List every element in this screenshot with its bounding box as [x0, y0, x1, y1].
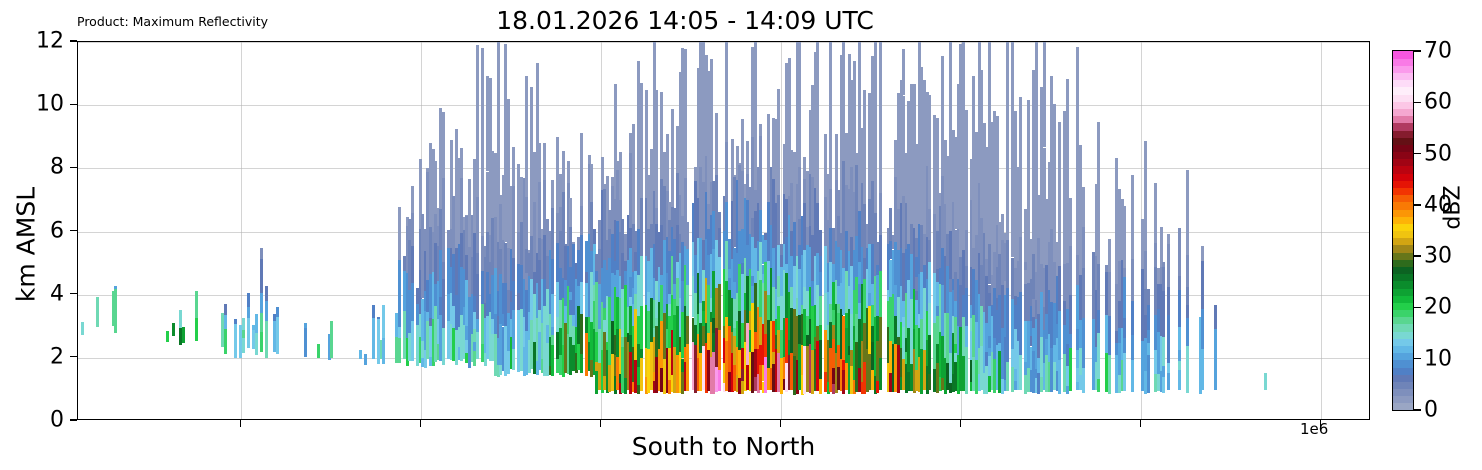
reflectivity-cell — [928, 374, 931, 391]
reflectivity-cell — [798, 43, 801, 67]
reflectivity-cell — [247, 307, 250, 318]
reflectivity-cell — [819, 272, 822, 296]
grid-line-horizontal — [78, 42, 1369, 43]
reflectivity-cell — [965, 326, 968, 347]
reflectivity-cell — [1035, 143, 1038, 199]
reflectivity-cell — [754, 111, 757, 136]
reflectivity-cell — [489, 123, 492, 144]
reflectivity-cell — [879, 41, 882, 97]
reflectivity-cell — [666, 134, 669, 135]
reflectivity-cell — [1167, 234, 1170, 244]
reflectivity-cell — [1123, 256, 1126, 268]
reflectivity-cell — [965, 184, 968, 231]
reflectivity-cell — [718, 284, 721, 330]
reflectivity-cell — [660, 92, 663, 104]
reflectivity-cell — [1154, 183, 1157, 209]
reflectivity-cell — [777, 89, 780, 131]
reflectivity-cell — [1058, 219, 1061, 266]
reflectivity-cell — [364, 354, 367, 365]
reflectivity-cell — [265, 301, 268, 321]
reflectivity-cell — [777, 168, 780, 196]
reflectivity-cell — [1019, 194, 1022, 237]
colorbar-tick-mark — [1414, 50, 1421, 51]
y-tick-mark — [70, 40, 77, 41]
reflectivity-cell — [304, 323, 307, 328]
colorbar-tick-label: 10 — [1424, 346, 1452, 371]
reflectivity-cell — [255, 314, 258, 333]
reflectivity-cell — [442, 112, 445, 119]
reflectivity-cell — [1167, 315, 1170, 362]
reflectivity-cell — [858, 41, 861, 61]
reflectivity-cell — [1035, 87, 1038, 143]
reflectivity-cell — [879, 211, 882, 235]
reflectivity-cell — [1167, 373, 1170, 390]
reflectivity-cell — [255, 341, 258, 355]
reflectivity-cell — [525, 99, 528, 174]
reflectivity-cell — [476, 197, 479, 253]
reflectivity-cell — [715, 113, 718, 129]
colorbar-swatch — [1393, 353, 1413, 361]
reflectivity-cell — [512, 150, 515, 185]
reflectivity-cell — [1108, 239, 1111, 240]
reflectivity-cell — [551, 259, 554, 294]
reflectivity-cell — [512, 258, 515, 281]
reflectivity-cell — [879, 235, 882, 271]
reflectivity-cell — [819, 256, 822, 272]
reflectivity-cell — [640, 104, 643, 159]
reflectivity-cell — [1121, 199, 1124, 200]
reflectivity-cell — [536, 63, 539, 100]
reflectivity-cell — [182, 327, 185, 343]
reflectivity-cell — [718, 212, 721, 228]
reflectivity-cell — [1131, 186, 1134, 258]
reflectivity-cell — [874, 41, 877, 62]
reflectivity-cell — [512, 147, 515, 150]
reflectivity-cell — [671, 109, 674, 155]
reflectivity-cell — [879, 358, 882, 390]
reflectivity-cell — [411, 283, 414, 321]
reflectivity-cell — [1035, 41, 1038, 87]
reflectivity-cell — [640, 198, 643, 256]
reflectivity-cell — [411, 213, 414, 246]
radar-plot-page: Product: Maximum Reflectivity 18.01.2026… — [0, 0, 1482, 470]
reflectivity-cell — [476, 55, 479, 113]
reflectivity-cell — [715, 129, 718, 174]
reflectivity-cell — [874, 62, 877, 123]
reflectivity-cell — [829, 158, 832, 189]
reflectivity-cell — [1079, 145, 1082, 176]
reflectivity-cell — [1069, 205, 1072, 246]
colorbar-swatch — [1393, 195, 1413, 203]
reflectivity-cell — [829, 189, 832, 228]
reflectivity-cell — [359, 350, 362, 359]
reflectivity-cell — [481, 134, 484, 206]
reflectivity-cell — [824, 134, 827, 144]
reflectivity-cell — [767, 114, 770, 152]
reflectivity-cell — [1186, 305, 1189, 318]
reflectivity-cell — [645, 90, 648, 93]
reflectivity-cell — [1123, 318, 1126, 338]
reflectivity-cell — [497, 124, 500, 176]
reflectivity-cell — [489, 79, 492, 124]
reflectivity-cell — [517, 164, 520, 167]
reflectivity-cell — [1162, 318, 1165, 337]
reflectivity-cell — [551, 180, 554, 208]
reflectivity-cell — [1014, 111, 1017, 115]
reflectivity-cell — [525, 76, 528, 99]
reflectivity-cell — [879, 193, 882, 212]
x-tick-mark — [420, 420, 421, 427]
reflectivity-cell — [562, 151, 565, 192]
reflectivity-cell — [965, 266, 968, 288]
reflectivity-cell — [1043, 86, 1046, 148]
reflectivity-cell — [1264, 373, 1267, 390]
reflectivity-cell — [224, 304, 227, 315]
grid-line-vertical — [1321, 42, 1322, 419]
colorbar-tick-label: 70 — [1424, 39, 1452, 64]
reflectivity-cell — [512, 349, 515, 370]
reflectivity-cell — [1019, 331, 1022, 356]
reflectivity-cell — [81, 322, 84, 335]
reflectivity-cell — [317, 344, 320, 357]
reflectivity-cell — [411, 321, 414, 361]
reflectivity-cell — [372, 305, 375, 317]
reflectivity-cell — [879, 97, 882, 150]
reflectivity-cell — [1097, 264, 1100, 309]
reflectivity-cell — [1147, 305, 1150, 330]
reflectivity-cell — [632, 173, 635, 223]
reflectivity-cell — [172, 323, 175, 335]
reflectivity-cell — [718, 370, 721, 391]
colorbar-swatch — [1393, 231, 1413, 239]
colorbar-swatch — [1393, 360, 1413, 368]
reflectivity-cell — [1027, 131, 1030, 148]
grid-line-vertical — [241, 42, 242, 419]
reflectivity-cell — [260, 248, 263, 259]
reflectivity-cell — [481, 206, 484, 236]
reflectivity-cell — [476, 253, 479, 274]
reflectivity-cell — [1162, 262, 1165, 267]
colorbar-swatch — [1393, 245, 1413, 253]
y-tick-mark — [70, 167, 77, 168]
reflectivity-cell — [195, 318, 198, 341]
reflectivity-cell — [1027, 100, 1030, 131]
reflectivity-cell — [686, 316, 689, 344]
y-tick-mark — [70, 293, 77, 294]
reflectivity-cell — [972, 83, 975, 130]
reflectivity-cell — [450, 150, 453, 196]
reflectivity-cell — [684, 104, 687, 137]
x-tick-mark — [960, 420, 961, 427]
reflectivity-cell — [788, 72, 791, 127]
reflectivity-cell — [551, 294, 554, 327]
y-tick-label: 4 — [50, 281, 64, 306]
reflectivity-cell — [1123, 277, 1126, 318]
reflectivity-cell — [96, 297, 99, 328]
reflectivity-cell — [816, 168, 819, 203]
reflectivity-cell — [1006, 148, 1009, 177]
reflectivity-cell — [234, 324, 237, 357]
reflectivity-cell — [798, 41, 801, 43]
reflectivity-cell — [1123, 353, 1126, 390]
reflectivity-cell — [1214, 305, 1217, 329]
reflectivity-cell — [538, 157, 541, 182]
reflectivity-cell — [928, 240, 931, 262]
reflectivity-cell — [476, 45, 479, 55]
reflectivity-cell — [1027, 191, 1030, 239]
reflectivity-cell — [798, 167, 801, 219]
reflectivity-cell — [398, 338, 401, 363]
reflectivity-cell — [816, 49, 819, 105]
colorbar-tick-mark — [1414, 409, 1421, 410]
reflectivity-cell — [265, 286, 268, 301]
reflectivity-cell — [640, 349, 643, 359]
reflectivity-cell — [1097, 333, 1100, 379]
colorbar-tick-mark — [1414, 102, 1421, 103]
reflectivity-cell — [1019, 97, 1022, 114]
reflectivity-cell — [179, 310, 182, 328]
reflectivity-cell — [260, 301, 263, 313]
reflectivity-cell — [247, 318, 250, 348]
reflectivity-cell — [1186, 255, 1189, 287]
reflectivity-cell — [1027, 148, 1030, 191]
reflectivity-cell — [1162, 337, 1165, 366]
reflectivity-cell — [928, 303, 931, 336]
reflectivity-cell — [224, 329, 227, 354]
reflectivity-cell — [551, 345, 554, 376]
reflectivity-cell — [949, 41, 952, 63]
reflectivity-cell — [1043, 173, 1046, 190]
reflectivity-cell — [1006, 59, 1009, 85]
reflectivity-cell — [536, 100, 539, 149]
reflectivity-cell — [460, 148, 463, 178]
reflectivity-cell — [829, 83, 832, 139]
reflectivity-cell — [1006, 288, 1009, 332]
reflectivity-cell — [398, 299, 401, 327]
reflectivity-cell — [655, 148, 658, 178]
reflectivity-cell — [1162, 267, 1165, 291]
reflectivity-cell — [481, 100, 484, 134]
reflectivity-cell — [759, 136, 762, 210]
y-axis-label: km AMSL — [12, 135, 41, 355]
reflectivity-cell — [853, 61, 856, 120]
reflectivity-cell — [1006, 41, 1009, 59]
reflectivity-cell — [114, 289, 117, 334]
reflectivity-cell — [1043, 43, 1046, 85]
reflectivity-cell — [195, 291, 198, 318]
reflectivity-cell — [1178, 361, 1181, 370]
colorbar-tick-label: 0 — [1424, 398, 1438, 423]
reflectivity-cell — [1058, 360, 1061, 394]
colorbar-swatch — [1393, 238, 1413, 246]
reflectivity-cell — [725, 42, 728, 49]
reflectivity-cell — [1178, 370, 1181, 390]
reflectivity-cell — [819, 340, 822, 378]
reflectivity-cell — [1019, 355, 1022, 390]
reflectivity-cell — [1019, 292, 1022, 331]
reflectivity-cell — [1082, 368, 1085, 393]
colorbar-swatch — [1393, 58, 1413, 66]
reflectivity-cell — [928, 163, 931, 209]
reflectivity-cell — [265, 321, 268, 358]
reflectivity-cell — [1131, 301, 1134, 336]
colorbar-swatch — [1393, 108, 1413, 116]
reflectivity-cell — [442, 246, 445, 262]
reflectivity-cell — [442, 279, 445, 327]
reflectivity-cell — [1053, 104, 1056, 127]
reflectivity-cell — [777, 130, 780, 168]
colorbar-tick-mark — [1414, 358, 1421, 359]
reflectivity-cell — [1144, 176, 1147, 251]
reflectivity-cell — [1006, 193, 1009, 240]
reflectivity-cell — [580, 354, 583, 372]
reflectivity-cell — [1006, 177, 1009, 193]
reflectivity-cell — [819, 230, 822, 256]
reflectivity-cell — [224, 315, 227, 329]
reflectivity-cell — [1019, 237, 1022, 276]
reflectivity-cell — [816, 41, 819, 49]
reflectivity-cell — [1131, 360, 1134, 392]
reflectivity-cell — [242, 330, 245, 338]
reflectivity-cell — [1108, 272, 1111, 305]
colorbar-swatch — [1393, 331, 1413, 339]
reflectivity-cell — [1006, 362, 1009, 391]
reflectivity-cell — [580, 235, 583, 282]
y-tick-label: 2 — [50, 344, 64, 369]
colorbar-tick-mark — [1414, 204, 1421, 205]
reflectivity-cell — [1066, 143, 1069, 173]
reflectivity-cell — [640, 160, 643, 198]
reflectivity-cell — [234, 319, 237, 325]
reflectivity-cell — [1154, 243, 1157, 267]
reflectivity-cell — [442, 178, 445, 245]
reflectivity-cell — [759, 124, 762, 136]
reflectivity-cell — [741, 119, 744, 171]
reflectivity-cell — [398, 224, 401, 260]
reflectivity-cell — [788, 127, 791, 145]
reflectivity-cell — [928, 209, 931, 240]
colorbar-swatch — [1393, 116, 1413, 124]
reflectivity-cell — [1097, 379, 1100, 393]
reflectivity-cell — [1147, 289, 1150, 305]
reflectivity-cell — [1058, 311, 1061, 360]
reflectivity-cell — [398, 327, 401, 338]
reflectivity-cell — [653, 41, 656, 95]
colorbar-swatch — [1393, 324, 1413, 332]
colorbar-label: dBZ — [1441, 133, 1466, 283]
reflectivity-cell — [1186, 346, 1189, 392]
reflectivity-cell — [798, 141, 801, 166]
reflectivity-cell — [928, 95, 931, 126]
reflectivity-cell — [512, 186, 515, 258]
reflectivity-cell — [928, 142, 931, 163]
reflectivity-cell — [476, 298, 479, 318]
colorbar-swatch — [1393, 51, 1413, 59]
reflectivity-cell — [260, 332, 263, 353]
reflectivity-cell — [489, 78, 492, 79]
colorbar-swatch — [1393, 137, 1413, 145]
reflectivity-cell — [1082, 187, 1085, 189]
reflectivity-cell — [1082, 189, 1085, 227]
reflectivity-cell — [1201, 261, 1204, 309]
reflectivity-cell — [538, 143, 541, 158]
colorbar-swatch — [1393, 152, 1413, 160]
reflectivity-cell — [455, 129, 458, 142]
y-tick-label: 6 — [50, 218, 64, 243]
reflectivity-cell — [1154, 209, 1157, 243]
reflectivity-cell — [1019, 114, 1022, 142]
reflectivity-cell — [819, 296, 822, 325]
reflectivity-cell — [1082, 318, 1085, 368]
reflectivity-cell — [777, 195, 780, 245]
reflectivity-cell — [842, 41, 845, 51]
reflectivity-cell — [1006, 240, 1009, 288]
reflectivity-cell — [255, 333, 258, 341]
reflectivity-cell — [1058, 148, 1061, 219]
reflectivity-cell — [1069, 198, 1072, 206]
reflectivity-cell — [562, 192, 565, 243]
reflectivity-cell — [996, 146, 999, 196]
reflectivity-cell — [1082, 227, 1085, 268]
reflectivity-cell — [718, 228, 721, 257]
reflectivity-cell — [614, 84, 617, 108]
reflectivity-cell — [1160, 227, 1163, 241]
reflectivity-cell — [1144, 141, 1147, 176]
colorbar-swatch — [1393, 87, 1413, 95]
reflectivity-cell — [829, 41, 832, 59]
reflectivity-cell — [978, 41, 981, 70]
colorbar-swatch — [1393, 252, 1413, 260]
reflectivity-cell — [525, 197, 528, 249]
reflectivity-cell — [705, 55, 708, 72]
reflectivity-cell — [614, 108, 617, 127]
reflectivity-cell — [1201, 246, 1204, 261]
colorbar-swatch — [1393, 202, 1413, 210]
reflectivity-cell — [580, 206, 583, 235]
reflectivity-cell — [858, 99, 861, 123]
reflectivity-cell — [411, 186, 414, 213]
reflectivity-cell — [567, 161, 570, 183]
reflectivity-cell — [1123, 268, 1126, 277]
colorbar-swatch — [1393, 338, 1413, 346]
reflectivity-cell — [829, 139, 832, 158]
grid-line-horizontal — [78, 168, 1369, 169]
reflectivity-cell — [879, 271, 882, 316]
reflectivity-cell — [1131, 335, 1134, 349]
reflectivity-cell — [863, 90, 866, 103]
reflectivity-cell — [1123, 206, 1126, 216]
reflectivity-cell — [398, 207, 401, 223]
reflectivity-cell — [710, 59, 713, 116]
y-tick-label: 8 — [50, 155, 64, 180]
reflectivity-cell — [525, 174, 528, 197]
colorbar-swatch — [1393, 130, 1413, 138]
y-tick-mark — [70, 419, 77, 420]
reflectivity-cell — [686, 369, 689, 391]
reflectivity-cell — [1178, 350, 1181, 360]
reflectivity-cell — [816, 105, 819, 168]
reflectivity-cell — [1186, 318, 1189, 346]
reflectivity-cell — [983, 123, 986, 131]
reflectivity-cell — [1019, 276, 1022, 291]
reflectivity-cell — [1167, 287, 1170, 315]
reflectivity-cell — [1011, 41, 1014, 76]
reflectivity-cell — [476, 146, 479, 197]
x-tick-mark — [780, 420, 781, 427]
reflectivity-cell — [1069, 334, 1072, 348]
reflectivity-cell — [671, 154, 674, 207]
reflectivity-cell — [450, 140, 453, 151]
